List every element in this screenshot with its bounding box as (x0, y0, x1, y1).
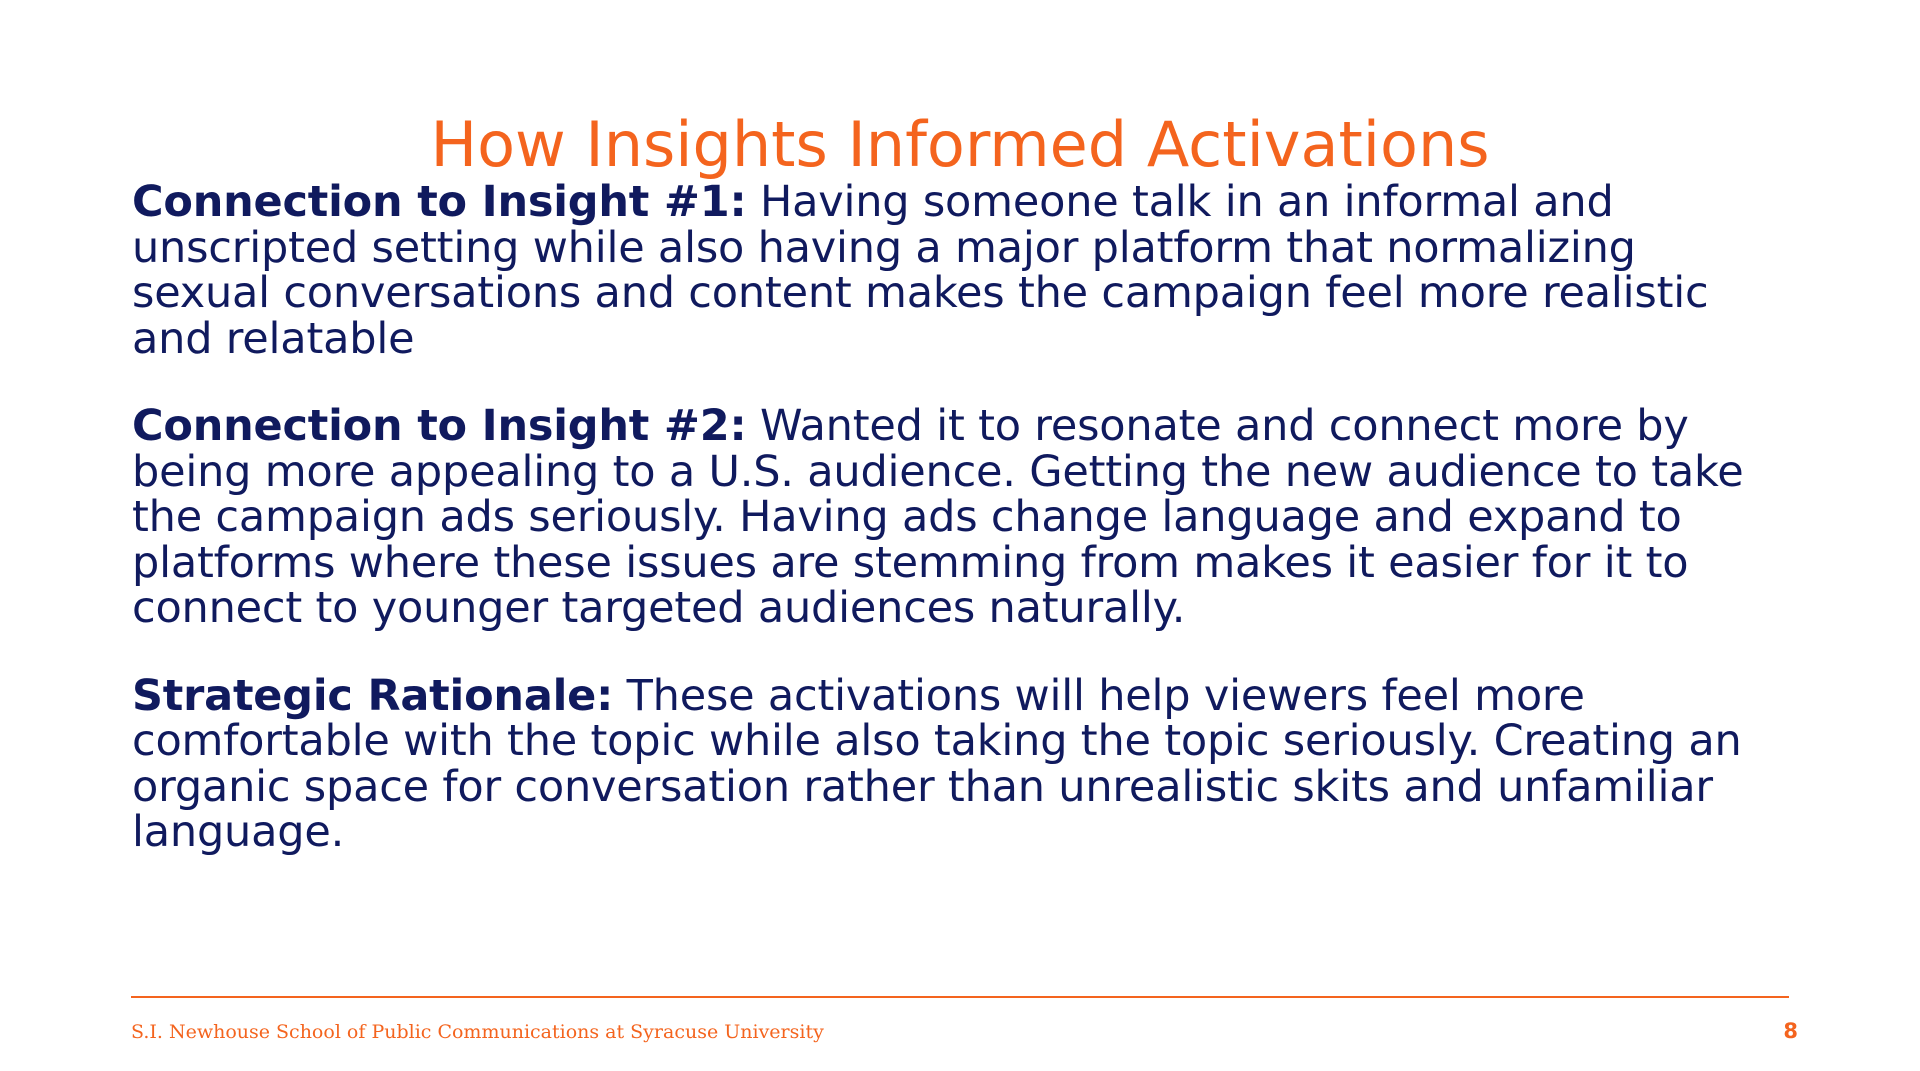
strategic-rationale-lead-in: Strategic Rationale: (132, 671, 613, 721)
insight-paragraph-2: Connection to Insight #2: Wanted it to r… (132, 404, 1772, 632)
strategic-rationale-paragraph: Strategic Rationale: These activations w… (132, 674, 1772, 856)
page-title: How Insights Informed Activations (0, 110, 1920, 180)
page-number: 8 (1783, 1018, 1798, 1044)
insight-1-lead-in: Connection to Insight #1: (132, 177, 746, 227)
slide-body-content: Connection to Insight #1: Having someone… (132, 180, 1792, 856)
footer-divider (131, 996, 1789, 998)
footer-organization-label: S.I. Newhouse School of Public Communica… (131, 1020, 824, 1044)
presentation-slide: How Insights Informed Activations Connec… (0, 0, 1920, 1071)
insight-2-lead-in: Connection to Insight #2: (132, 401, 746, 451)
insight-paragraph-1: Connection to Insight #1: Having someone… (132, 180, 1732, 362)
